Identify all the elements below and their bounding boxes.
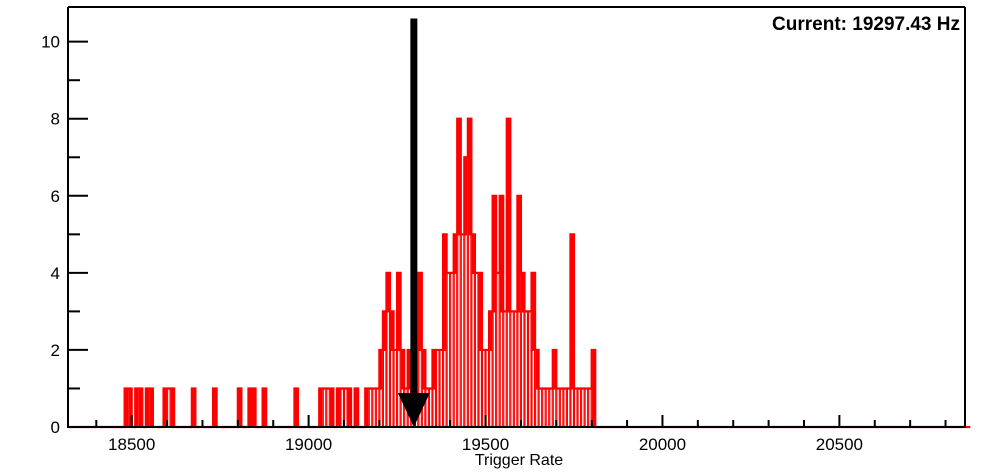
- histogram-bar-interior: [324, 390, 325, 426]
- histogram-bar-interior: [522, 313, 523, 426]
- histogram-bar-interior: [582, 390, 583, 426]
- y-tick-label: 0: [51, 418, 60, 437]
- y-tick-label: 10: [41, 33, 60, 52]
- histogram-bar-interior: [572, 390, 573, 426]
- histogram-bar-interior: [508, 313, 509, 426]
- histogram-bar-interior: [579, 390, 580, 426]
- histogram-bar-interior: [480, 351, 481, 426]
- histogram-bar-interior: [388, 313, 389, 426]
- histogram-bar-interior: [398, 351, 399, 426]
- histogram-bar-interior: [469, 235, 470, 425]
- x-tick-label: 19000: [285, 435, 332, 454]
- histogram-bar-interior: [586, 390, 587, 426]
- histogram-bar-interior: [434, 390, 435, 426]
- histogram-bar-interior: [345, 390, 346, 426]
- histogram-bar-interior: [168, 390, 169, 426]
- histogram-bar-interior: [518, 313, 519, 426]
- y-tick-label: 6: [51, 187, 60, 206]
- histogram-bar-interior: [515, 313, 516, 426]
- histogram-bar-interior: [430, 390, 431, 426]
- histogram-bar-interior: [448, 274, 449, 426]
- histogram-bar-interior: [327, 390, 328, 426]
- x-tick-label: 20500: [816, 435, 863, 454]
- histogram-bar-interior: [342, 390, 343, 426]
- histogram-bar-interior: [526, 313, 527, 426]
- histogram-bar-interior: [444, 351, 445, 426]
- histogram-bar-interior: [373, 390, 374, 426]
- histogram-bar-interior: [561, 390, 562, 426]
- x-tick-label: 18500: [108, 435, 155, 454]
- histogram-bar-interior: [441, 351, 442, 426]
- histogram-bar-interior: [472, 274, 473, 426]
- histogram-bar-interior: [550, 390, 551, 426]
- x-tick-label: 20000: [639, 435, 686, 454]
- trigger-rate-histogram: 1850019000195002000020500 0246810 Trigge…: [0, 0, 996, 472]
- histogram-bar-interior: [589, 390, 590, 426]
- histogram-bar-interior: [437, 351, 438, 426]
- current-value-annotation: Current: 19297.43 Hz: [772, 14, 960, 35]
- histogram-bar-interior: [543, 390, 544, 426]
- histogram-bar-interior: [483, 351, 484, 426]
- histogram-bar-interior: [494, 313, 495, 426]
- histogram-bar-interior: [487, 351, 488, 426]
- histogram-bar-interior: [511, 313, 512, 426]
- histogram-bar-interior: [564, 390, 565, 426]
- histogram-bar-interior: [391, 351, 392, 426]
- histogram-bar-interior: [575, 390, 576, 426]
- histogram-bar-interior: [568, 390, 569, 426]
- histogram-bar-interior: [547, 390, 548, 426]
- histogram-bar-interior: [497, 197, 498, 426]
- histogram-bar-interior: [458, 235, 459, 425]
- histogram-bar-interior: [465, 235, 466, 425]
- histogram-bar-interior: [377, 390, 378, 426]
- histogram-bar-interior: [384, 351, 385, 426]
- histogram-bar-interior: [395, 313, 396, 426]
- histogram-bar-interior: [451, 274, 452, 426]
- y-tick-label: 2: [51, 341, 60, 360]
- y-tick-label: 8: [51, 110, 60, 129]
- x-axis-title: Trigger Rate: [475, 452, 563, 469]
- histogram-bar-interior: [529, 313, 530, 426]
- histogram-bar-interior: [462, 158, 463, 426]
- histogram-bar-interior: [455, 274, 456, 426]
- histogram-bar-interior: [533, 351, 534, 426]
- histogram-bar-interior: [370, 390, 371, 426]
- histogram-bar-interior: [490, 351, 491, 426]
- y-tick-label: 4: [51, 264, 60, 283]
- histogram-bar-interior: [554, 390, 555, 426]
- histogram-bar-interior: [540, 390, 541, 426]
- histogram-bar-interior: [536, 390, 537, 426]
- histogram-bar-interior: [476, 274, 477, 426]
- histogram-bar-interior: [501, 313, 502, 426]
- histogram-bar-interior: [557, 390, 558, 426]
- histogram-bar-interior: [380, 390, 381, 426]
- histogram-canvas: 1850019000195002000020500 0246810 Trigge…: [0, 0, 996, 472]
